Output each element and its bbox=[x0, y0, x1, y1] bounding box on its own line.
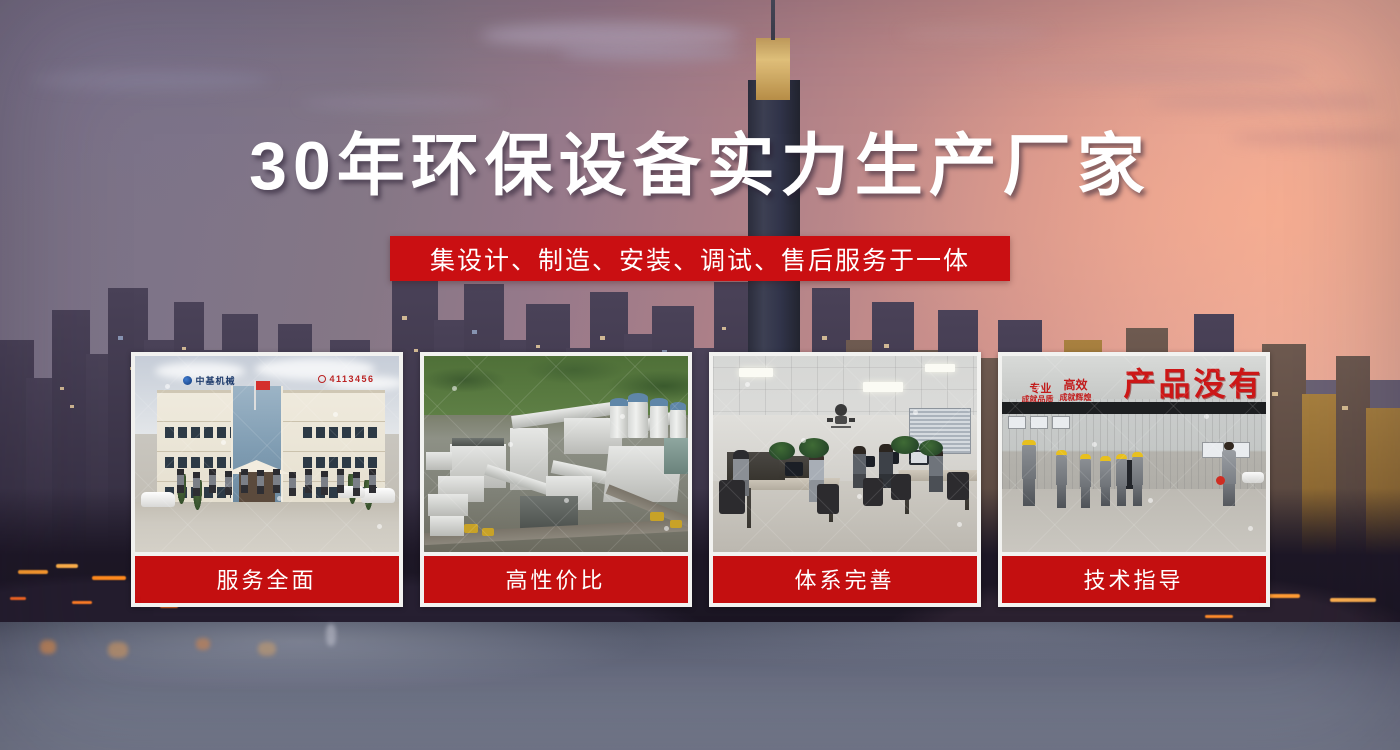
hero-banner: 30年环保设备实力生产厂家 集设计、制造、安装、调试、售后服务于一体 bbox=[0, 0, 1400, 750]
card-label-text: 体系完善 bbox=[794, 563, 894, 595]
page-title: 30年环保设备实力生产厂家 bbox=[0, 132, 1400, 200]
card-photo-industrial-plant bbox=[424, 356, 688, 552]
card-photo-office-interior bbox=[713, 356, 977, 552]
watermark-pattern bbox=[713, 356, 977, 552]
card-label-text: 高性价比 bbox=[505, 563, 605, 595]
feature-card-value[interactable]: 高性价比 bbox=[420, 352, 692, 607]
card-label-system: 体系完善 bbox=[713, 556, 977, 603]
subtitle-text: 集设计、制造、安装、调试、售后服务于一体 bbox=[430, 241, 970, 277]
feature-card-row: 中基机械 4113456 bbox=[0, 352, 1400, 610]
watermark-pattern bbox=[424, 356, 688, 552]
watermark-pattern bbox=[135, 356, 399, 552]
card-photo-company-building: 中基机械 4113456 bbox=[135, 356, 399, 552]
subtitle-banner: 集设计、制造、安装、调试、售后服务于一体 bbox=[390, 236, 1010, 281]
card-label-guidance: 技术指导 bbox=[1002, 556, 1266, 603]
feature-card-guidance[interactable]: 产品没有 专业 高效 成就品质 成就辉煌 bbox=[998, 352, 1270, 607]
card-label-text: 服务全面 bbox=[216, 563, 316, 595]
water-haze bbox=[0, 622, 1400, 750]
feature-card-system[interactable]: 体系完善 bbox=[709, 352, 981, 607]
feature-card-service[interactable]: 中基机械 4113456 bbox=[131, 352, 403, 607]
card-photo-factory-workers: 产品没有 专业 高效 成就品质 成就辉煌 bbox=[1002, 356, 1266, 552]
card-label-text: 技术指导 bbox=[1083, 563, 1183, 595]
card-label-service: 服务全面 bbox=[135, 556, 399, 603]
card-label-value: 高性价比 bbox=[424, 556, 688, 603]
tower-crown-lights bbox=[756, 38, 790, 100]
watermark-pattern bbox=[1002, 356, 1266, 552]
